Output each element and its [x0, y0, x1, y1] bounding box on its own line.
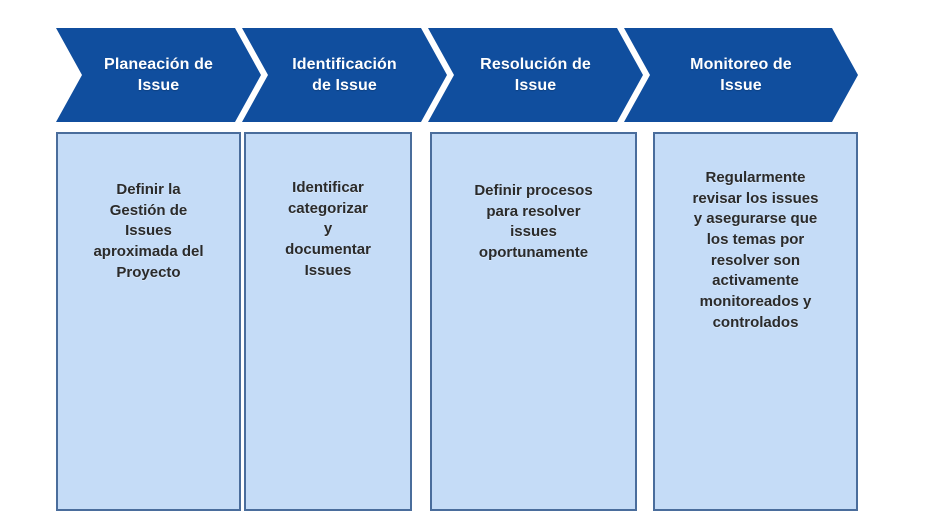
chevron-stage-2[interactable]: Identificación de Issue [242, 28, 447, 122]
chevron-header-band: Planeación de Issue Identificación de Is… [56, 28, 858, 122]
chevron-label-1: Planeación de Issue [98, 54, 219, 96]
body-text-4: Regularmente revisar los issues y asegur… [655, 168, 856, 334]
chevron-label-2: Identificación de Issue [286, 54, 403, 96]
body-text-3: Definir procesos para resolver issues op… [432, 181, 635, 264]
body-box-stage-4[interactable]: Regularmente revisar los issues y asegur… [653, 132, 858, 511]
body-text-1: Definir la Gestión de Issues aproximada … [58, 180, 239, 283]
chevron-stage-4[interactable]: Monitoreo de Issue [624, 28, 858, 122]
issue-management-process-diagram: Planeación de Issue Identificación de Is… [0, 0, 931, 529]
chevron-label-4: Monitoreo de Issue [684, 54, 798, 96]
chevron-label-3: Resolución de Issue [474, 54, 597, 96]
body-box-stage-3[interactable]: Definir procesos para resolver issues op… [430, 132, 637, 511]
body-text-2: Identificar categorizar y documentar Iss… [246, 178, 410, 281]
body-box-stage-1[interactable]: Definir la Gestión de Issues aproximada … [56, 132, 241, 511]
body-box-stage-2[interactable]: Identificar categorizar y documentar Iss… [244, 132, 412, 511]
chevron-stage-3[interactable]: Resolución de Issue [428, 28, 643, 122]
chevron-stage-1[interactable]: Planeación de Issue [56, 28, 261, 122]
